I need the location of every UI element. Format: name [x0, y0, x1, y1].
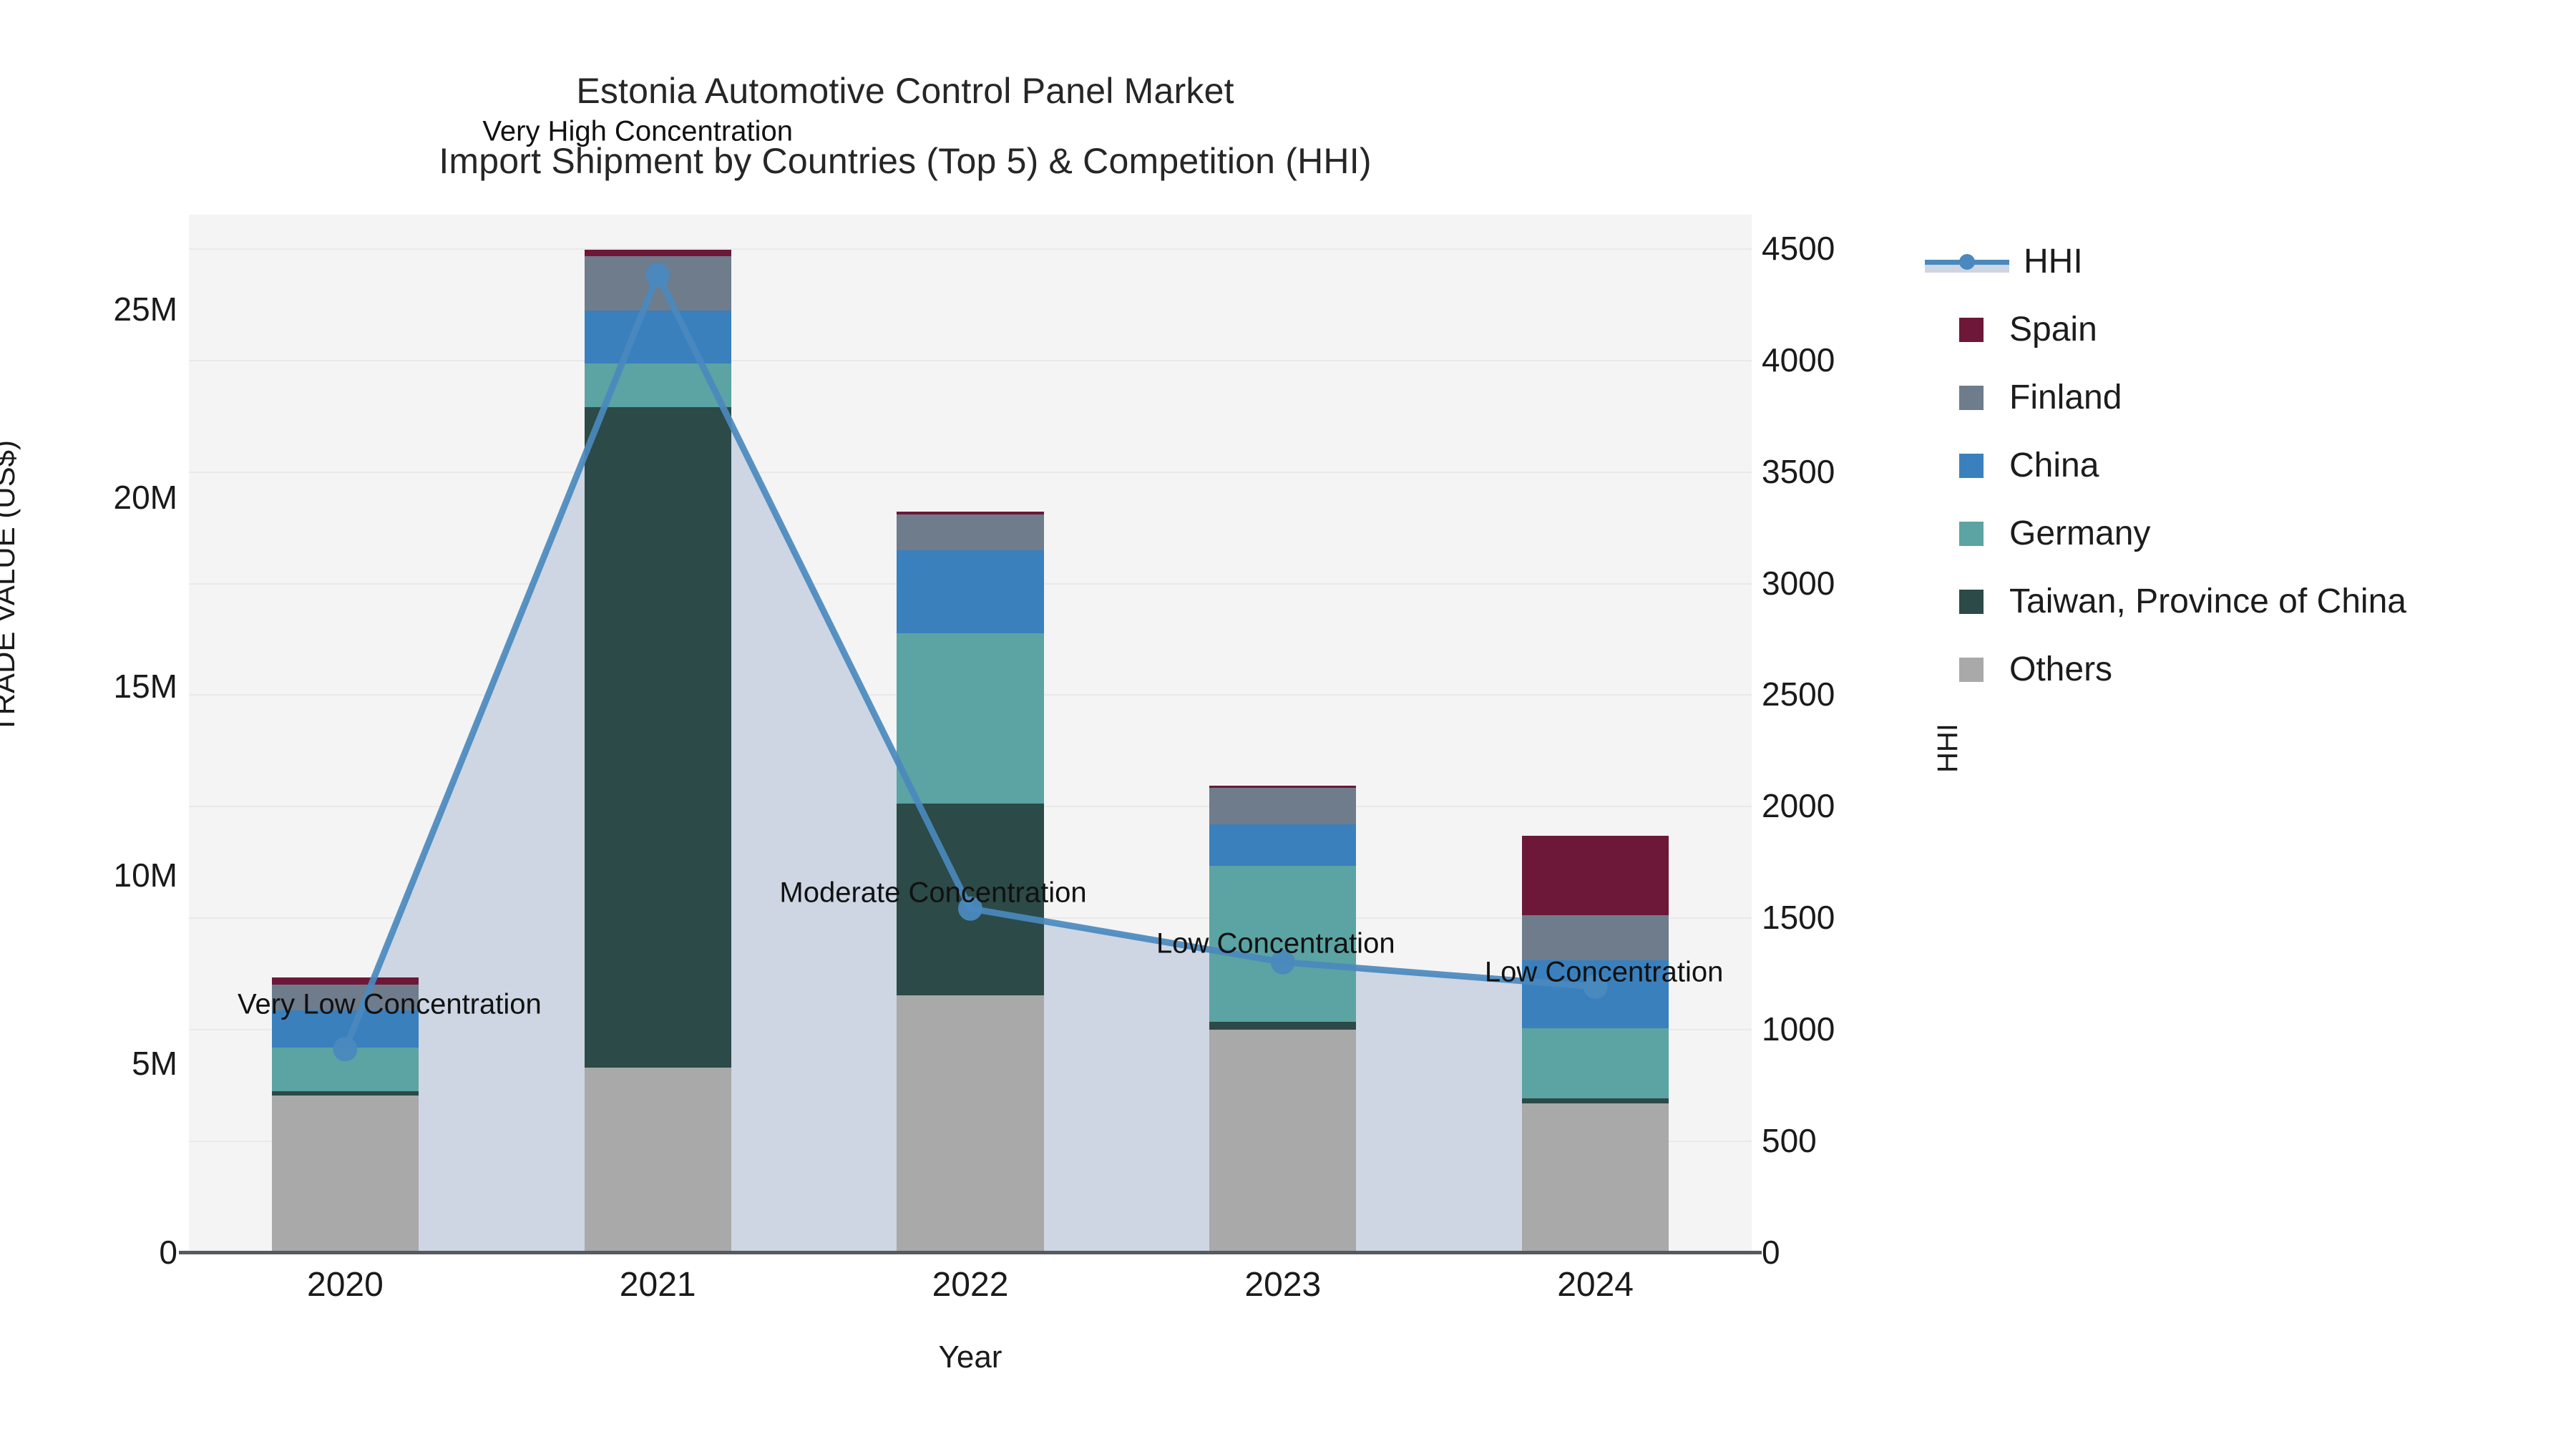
y-axis-left-tick-label: 15M: [114, 667, 177, 706]
x-axis-tick-label: 2020: [307, 1265, 384, 1304]
x-axis-tick-label: 2023: [1244, 1265, 1321, 1304]
y-axis-left-tick-label: 0: [159, 1233, 177, 1272]
legend-item-label: Others: [2009, 650, 2112, 689]
y-axis-right-tick-label: 2000: [1762, 786, 1835, 825]
chart-subtitle: Import Shipment by Countries (Top 5) & C…: [0, 126, 1810, 196]
y-axis-right-tick-label: 2500: [1762, 675, 1835, 713]
legend-color-swatch: [1959, 590, 1984, 614]
legend-item-hhi[interactable]: HHI: [1925, 228, 2569, 296]
x-axis-ticks: 20202021202220232024: [189, 1265, 1752, 1322]
y-axis-right-tick-label: 0: [1762, 1233, 1780, 1272]
legend-color-swatch: [1959, 454, 1984, 478]
chart-legend: HHISpainFinlandChinaGermanyTaiwan, Provi…: [1925, 228, 2569, 703]
plot-area: Very Low ConcentrationVery High Concentr…: [189, 215, 1752, 1252]
legend-item-label: Germany: [2009, 514, 2150, 553]
y-axis-right-tick-label: 1000: [1762, 1010, 1835, 1048]
legend-color-swatch: [1959, 386, 1984, 410]
y-axis-left-title: TRADE VALUE (US$): [0, 440, 21, 733]
legend-item-label: Taiwan, Province of China: [2009, 582, 2406, 621]
y-axis-left-ticks: 05M10M15M20M25M: [0, 0, 179, 1449]
legend-item-spain[interactable]: Spain: [1925, 296, 2569, 364]
concentration-annotation: Very Low Concentration: [238, 989, 542, 1021]
y-axis-right-tick-label: 3000: [1762, 564, 1835, 602]
concentration-annotation: Low Concentration: [1485, 956, 1724, 988]
y-axis-right-ticks: 050010001500200025003000350040004500: [1762, 0, 1948, 1449]
concentration-annotation: Moderate Concentration: [779, 877, 1086, 909]
y-axis-right-tick-label: 1500: [1762, 898, 1835, 937]
legend-item-taiwan-province-of-china[interactable]: Taiwan, Province of China: [1925, 567, 2569, 635]
legend-item-label: Spain: [2009, 310, 2097, 349]
legend-item-label: China: [2009, 446, 2099, 485]
hhi-data-point[interactable]: [645, 263, 670, 287]
hhi-line-series: [189, 215, 1752, 1252]
y-axis-left-tick-label: 25M: [114, 290, 177, 328]
legend-item-label: HHI: [2024, 242, 2083, 281]
legend-item-germany[interactable]: Germany: [1925, 499, 2569, 567]
y-axis-left-tick-label: 20M: [114, 478, 177, 517]
hhi-marker-icon: [1959, 254, 1975, 270]
hhi-polyline: [345, 275, 1595, 1049]
y-axis-right-title: HHI: [1932, 723, 1964, 773]
x-axis-tick-label: 2022: [932, 1265, 1009, 1304]
concentration-annotation: Low Concentration: [1156, 927, 1395, 960]
y-axis-right-tick-label: 3500: [1762, 452, 1835, 491]
x-axis-tick-label: 2021: [620, 1265, 696, 1304]
y-axis-right-tick-label: 4500: [1762, 229, 1835, 268]
concentration-annotation: Very High Concentration: [482, 116, 793, 148]
y-axis-right-tick-label: 4000: [1762, 341, 1835, 379]
legend-item-china[interactable]: China: [1925, 431, 2569, 499]
y-axis-left-tick-label: 10M: [114, 856, 177, 894]
legend-item-finland[interactable]: Finland: [1925, 364, 2569, 431]
x-axis-title: Year: [189, 1340, 1752, 1375]
x-axis-tick-label: 2024: [1557, 1265, 1634, 1304]
y-axis-left-tick-label: 5M: [132, 1044, 177, 1083]
x-axis-line: [179, 1251, 1762, 1254]
legend-color-swatch: [1959, 318, 1984, 342]
hhi-data-point[interactable]: [333, 1037, 357, 1061]
page-title: Estonia Automotive Control Panel Market: [0, 56, 1810, 126]
legend-item-others[interactable]: Others: [1925, 635, 2569, 703]
chart-title-block: Estonia Automotive Control Panel Market …: [0, 56, 1810, 196]
chart-root: Estonia Automotive Control Panel Market …: [0, 0, 2576, 1449]
hhi-line-icon: [1925, 250, 2009, 274]
y-axis-right-tick-label: 500: [1762, 1121, 1817, 1160]
legend-color-swatch: [1959, 658, 1984, 682]
legend-item-label: Finland: [2009, 378, 2122, 417]
legend-color-swatch: [1959, 522, 1984, 546]
